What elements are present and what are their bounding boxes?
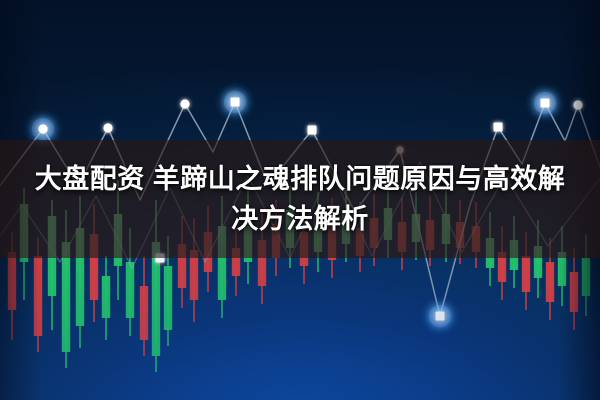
- banner-image: 大盘配资 羊蹄山之魂排队问题原因与高效解决方法解析: [0, 0, 600, 400]
- title-container: 大盘配资 羊蹄山之魂排队问题原因与高效解决方法解析: [0, 140, 600, 258]
- banner-title: 大盘配资 羊蹄山之魂排队问题原因与高效解决方法解析: [24, 159, 576, 239]
